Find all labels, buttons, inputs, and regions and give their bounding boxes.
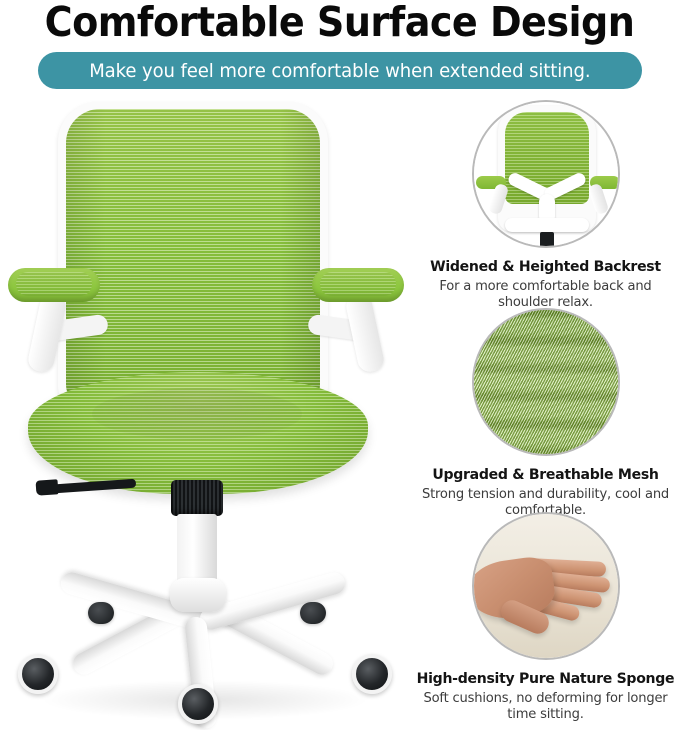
subtitle-text: Make you feel more comfortable when exte… bbox=[89, 60, 590, 82]
feature-item-sponge: High-density Pure Nature Sponge Soft cus… bbox=[412, 512, 679, 722]
seat-contour-shading bbox=[92, 388, 302, 440]
hand-pressing-foam-icon bbox=[472, 512, 620, 660]
backrest-shading-right bbox=[280, 109, 320, 405]
subtitle-banner: Make you feel more comfortable when exte… bbox=[38, 52, 642, 89]
height-adjust-lever-knob bbox=[36, 479, 59, 495]
caster-right bbox=[352, 654, 392, 694]
header: Comfortable Surface Design Make you feel… bbox=[0, 0, 679, 96]
gas-cylinder-collar bbox=[171, 480, 223, 516]
chair-backrest-rear-view-icon bbox=[472, 100, 620, 248]
caster-rear-right bbox=[300, 602, 326, 624]
product-hero-image bbox=[0, 96, 412, 726]
armrest-pad-left bbox=[8, 268, 100, 302]
feature-description: For a more comfortable back and shoulder… bbox=[422, 278, 669, 310]
caster-rear-left bbox=[88, 602, 114, 624]
backrest-shading-left bbox=[66, 109, 106, 405]
armrest-left bbox=[8, 268, 100, 308]
page-title: Comfortable Surface Design bbox=[24, 0, 655, 46]
feature-item-backrest: Widened & Heighted Backrest For a more c… bbox=[412, 100, 679, 310]
armrest-right bbox=[312, 268, 404, 308]
feature-title: Widened & Heighted Backrest bbox=[416, 258, 675, 276]
feature-title: Upgraded & Breathable Mesh bbox=[416, 466, 675, 484]
base-hub bbox=[170, 578, 226, 612]
feature-list: Widened & Heighted Backrest For a more c… bbox=[412, 96, 679, 726]
feature-item-mesh: Upgraded & Breathable Mesh Strong tensio… bbox=[412, 308, 679, 518]
mesh-fabric-closeup-icon bbox=[472, 308, 620, 456]
feature-title: High-density Pure Nature Sponge bbox=[416, 670, 675, 688]
feature-description: Soft cushions, no deforming for longer t… bbox=[422, 690, 669, 722]
caster-front bbox=[178, 684, 218, 724]
armrest-pad-right bbox=[312, 268, 404, 302]
caster-left bbox=[18, 654, 58, 694]
